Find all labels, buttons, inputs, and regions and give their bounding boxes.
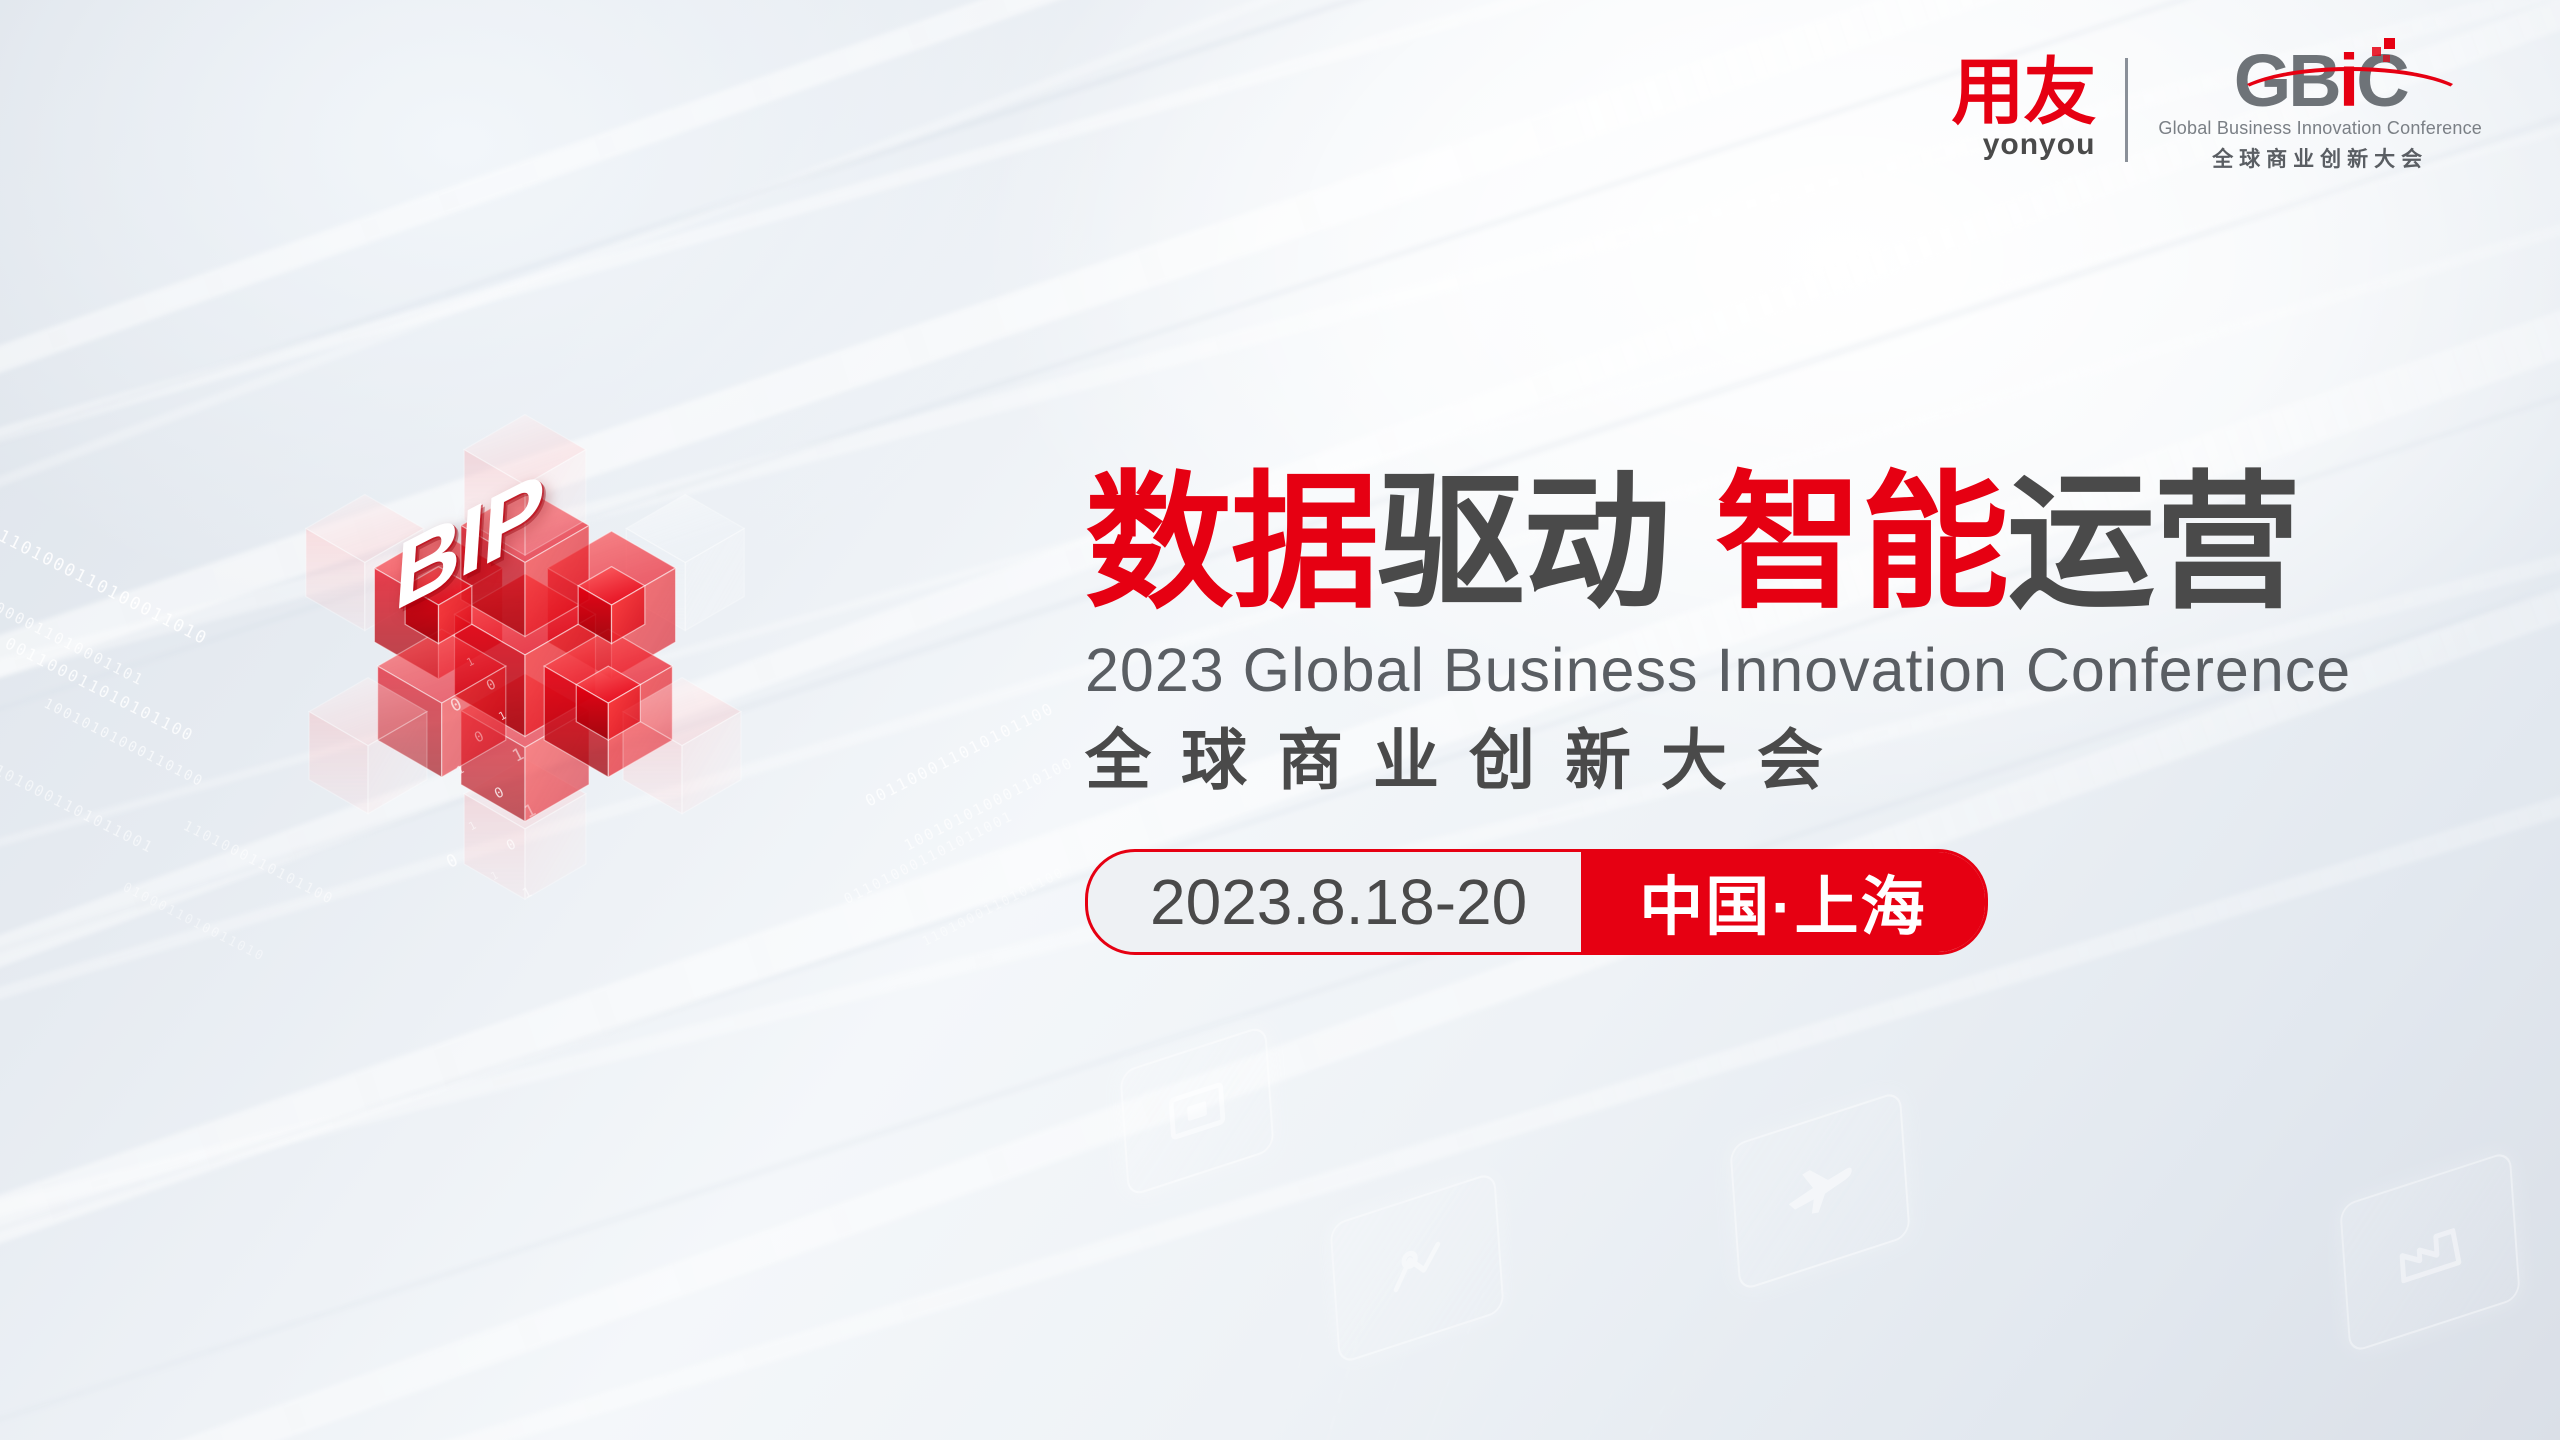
document-card-icon: [1119, 1024, 1274, 1197]
analytics-icon: [1384, 1231, 1451, 1305]
analytics-card-icon: [1329, 1171, 1504, 1365]
gbic-mark-i: i: [2339, 48, 2357, 115]
date-location-badge: 2023.8.18-20 中国·上海: [1085, 849, 1988, 955]
logo-divider: [2125, 58, 2128, 162]
gbic-pixel-dots-icon: [2361, 38, 2395, 68]
airplane-icon: [1783, 1152, 1857, 1230]
document-icon: [1168, 1078, 1226, 1143]
gbic-logo: GBiC Global Business Innovation Conferen…: [2158, 48, 2482, 173]
gbic-wordmark: GBiC: [2234, 48, 2407, 115]
chinese-subtitle: 全球商业创新大会: [1085, 727, 2485, 793]
yonyou-logo: 用友 yonyou: [1951, 59, 2095, 162]
event-location: 中国·上海: [1581, 852, 1984, 952]
yonyou-logo-cn: 用友: [1951, 59, 2095, 126]
conference-banner: 0110100011010001101001010000110100011010…: [0, 0, 2560, 1440]
page-title: 数据驱动智能运营: [1085, 470, 2485, 618]
snowflake-cube-svg: [95, 95, 1095, 1245]
main-content: 数据驱动智能运营 2023 Global Business Innovation…: [1085, 470, 2485, 955]
factory-icon: [2393, 1213, 2467, 1291]
bip-cube-snowflake-graphic: 0110100011010001101001010000110100011010…: [95, 95, 1095, 1245]
headline-part-3: 智能: [1715, 461, 2007, 626]
factory-card-icon: [2339, 1150, 2521, 1354]
gbic-mark-gb: GB: [2234, 48, 2339, 115]
yonyou-logo-en: yonyou: [1983, 128, 2096, 162]
airplane-card-icon: [1729, 1090, 1910, 1292]
english-subtitle: 2023 Global Business Innovation Conferen…: [1085, 640, 2485, 701]
headline-part-2: 驱动: [1377, 461, 1669, 626]
headline-part-1: 数据: [1085, 461, 1377, 626]
logo-group: 用友 yonyou GBiC Global Business Innovatio…: [1951, 48, 2482, 173]
gbic-logo-cn: 全球商业创新大会: [2212, 143, 2428, 173]
event-date: 2023.8.18-20: [1088, 852, 1581, 952]
headline-part-4: 运营: [2007, 461, 2299, 626]
